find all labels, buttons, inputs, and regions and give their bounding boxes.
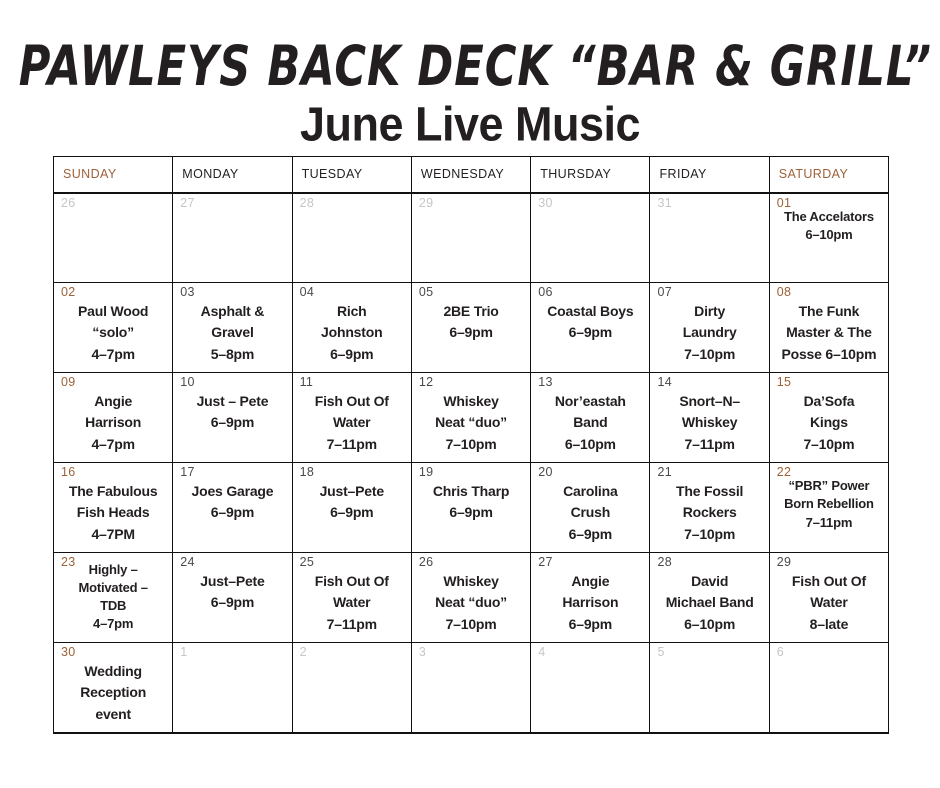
calendar-day-cell[interactable]: 22“PBR” PowerBorn Rebellion7–11pm: [769, 463, 888, 553]
day-number: 29: [777, 556, 792, 569]
event-line: Water: [299, 592, 405, 613]
calendar-week-row: 26272829303101The Accelators6–10pm: [54, 193, 889, 283]
day-number: 1: [180, 646, 187, 659]
calendar-day-cell[interactable]: 06Coastal Boys6–9pm: [531, 283, 650, 373]
event-line: 7–10pm: [656, 524, 762, 545]
day-number: 16: [61, 466, 76, 479]
event-line: Fish Out Of: [299, 571, 405, 592]
day-number: 4: [538, 646, 545, 659]
event-line: Reception: [60, 682, 166, 703]
event-line: 7–10pm: [776, 434, 882, 455]
calendar-day-cell[interactable]: 01The Accelators6–10pm: [769, 193, 888, 283]
event-line: Motivated –: [60, 579, 166, 597]
event-line: event: [60, 704, 166, 725]
event-line: Just–Pete: [299, 481, 405, 502]
calendar-day-cell[interactable]: 02Paul Wood“solo”4–7pm: [54, 283, 173, 373]
calendar-day-cell[interactable]: 4: [531, 643, 650, 733]
event-line: Asphalt &: [179, 301, 285, 322]
day-number: 28: [657, 556, 672, 569]
column-header-tuesday: TUESDAY: [292, 157, 411, 193]
calendar-day-cell[interactable]: 12WhiskeyNeat “duo”7–10pm: [411, 373, 530, 463]
calendar-header-row: SUNDAYMONDAYTUESDAYWEDNESDAYTHURSDAYFRID…: [54, 157, 889, 193]
column-header-saturday: SATURDAY: [769, 157, 888, 193]
column-header-sunday: SUNDAY: [54, 157, 173, 193]
day-number: 04: [300, 286, 315, 299]
event-line: Whiskey: [656, 412, 762, 433]
event-line: Water: [776, 592, 882, 613]
calendar-day-cell[interactable]: 11Fish Out OfWater7–11pm: [292, 373, 411, 463]
calendar-day-cell[interactable]: 10Just – Pete6–9pm: [173, 373, 292, 463]
calendar-day-cell[interactable]: 04RichJohnston6–9pm: [292, 283, 411, 373]
day-number: 26: [419, 556, 434, 569]
event-line: Gravel: [179, 322, 285, 343]
day-number: 19: [419, 466, 434, 479]
day-number: 08: [777, 286, 792, 299]
calendar-day-cell[interactable]: 5: [650, 643, 769, 733]
day-number: 30: [61, 646, 76, 659]
calendar-day-cell[interactable]: 29: [411, 193, 530, 283]
calendar-week-row: 30WeddingReceptionevent123456: [54, 643, 889, 733]
event-line: Laundry: [656, 322, 762, 343]
calendar-day-cell[interactable]: 27: [173, 193, 292, 283]
calendar-week-row: 16The FabulousFish Heads4–7PM17Joes Gara…: [54, 463, 889, 553]
day-number: 09: [61, 376, 76, 389]
event-line: 5–8pm: [179, 344, 285, 365]
event-line: “solo”: [60, 322, 166, 343]
calendar-day-cell[interactable]: 26WhiskeyNeat “duo”7–10pm: [411, 553, 530, 643]
event-line: 4–7pm: [60, 344, 166, 365]
event-line: Neat “duo”: [418, 592, 524, 613]
day-number: 05: [419, 286, 434, 299]
calendar-day-cell[interactable]: 30: [531, 193, 650, 283]
event-line: Angie: [60, 391, 166, 412]
day-number: 23: [61, 556, 76, 569]
event-line: 7–11pm: [299, 434, 405, 455]
day-number: 12: [419, 376, 434, 389]
event-line: Fish Out Of: [299, 391, 405, 412]
event-line: 6–9pm: [418, 322, 524, 343]
calendar-day-cell[interactable]: 1: [173, 643, 292, 733]
calendar-day-cell[interactable]: 16The FabulousFish Heads4–7PM: [54, 463, 173, 553]
day-number: 17: [180, 466, 195, 479]
event-line: Fish Out Of: [776, 571, 882, 592]
event-line: Coastal Boys: [537, 301, 643, 322]
calendar-day-cell[interactable]: 21The FossilRockers7–10pm: [650, 463, 769, 553]
calendar-day-cell[interactable]: 28DavidMichael Band6–10pm: [650, 553, 769, 643]
calendar-day-cell[interactable]: 30WeddingReceptionevent: [54, 643, 173, 733]
event-line: Crush: [537, 502, 643, 523]
day-number: 13: [538, 376, 553, 389]
day-number: 07: [657, 286, 672, 299]
day-number: 5: [657, 646, 664, 659]
event-line: Harrison: [537, 592, 643, 613]
event-line: 7–11pm: [656, 434, 762, 455]
event-line: 4–7PM: [60, 524, 166, 545]
day-number: 24: [180, 556, 195, 569]
day-number: 11: [300, 376, 314, 389]
event-line: Just – Pete: [179, 391, 285, 412]
calendar-day-cell[interactable]: 13Nor’eastahBand6–10pm: [531, 373, 650, 463]
day-number: 2: [300, 646, 307, 659]
calendar-day-cell[interactable]: 18Just–Pete6–9pm: [292, 463, 411, 553]
day-number: 20: [538, 466, 553, 479]
calendar-day-cell[interactable]: 25Fish Out OfWater7–11pm: [292, 553, 411, 643]
event-line: 6–9pm: [418, 502, 524, 523]
event-line: The Funk: [776, 301, 882, 322]
day-number: 15: [777, 376, 792, 389]
calendar-week-row: 09AngieHarrison4–7pm10Just – Pete6–9pm11…: [54, 373, 889, 463]
calendar-day-cell[interactable]: 052BE Trio6–9pm: [411, 283, 530, 373]
event-line: 6–10pm: [656, 614, 762, 635]
calendar-week-row: 02Paul Wood“solo”4–7pm03Asphalt &Gravel5…: [54, 283, 889, 373]
calendar-day-cell[interactable]: 03Asphalt &Gravel5–8pm: [173, 283, 292, 373]
event-line: Michael Band: [656, 592, 762, 613]
day-number: 03: [180, 286, 195, 299]
event-line: Whiskey: [418, 571, 524, 592]
event-line: Da’Sofa: [776, 391, 882, 412]
event-line: Kings: [776, 412, 882, 433]
event-line: Angie: [537, 571, 643, 592]
event-line: 6–9pm: [537, 322, 643, 343]
event-line: 4–7pm: [60, 434, 166, 455]
calendar-day-cell[interactable]: 3: [411, 643, 530, 733]
event-line: Master & The: [776, 322, 882, 343]
calendar-day-cell[interactable]: 29Fish Out OfWater8–late: [769, 553, 888, 643]
day-number: 27: [538, 556, 553, 569]
event-line: 2BE Trio: [418, 301, 524, 322]
event-line: Snort–N–: [656, 391, 762, 412]
event-line: 7–10pm: [418, 434, 524, 455]
event-line: Dirty: [656, 301, 762, 322]
event-line: Just–Pete: [179, 571, 285, 592]
event-line: 6–10pm: [537, 434, 643, 455]
calendar-day-cell[interactable]: 26: [54, 193, 173, 283]
day-number: 18: [300, 466, 315, 479]
column-header-monday: MONDAY: [173, 157, 292, 193]
event-line: 6–10pm: [776, 226, 882, 244]
event-line: David: [656, 571, 762, 592]
calendar-day-cell[interactable]: 20CarolinaCrush6–9pm: [531, 463, 650, 553]
event-line: The Fossil: [656, 481, 762, 502]
day-number: 30: [538, 197, 553, 210]
event-line: Highly –: [60, 561, 166, 579]
column-header-wednesday: WEDNESDAY: [411, 157, 530, 193]
event-line: 7–10pm: [418, 614, 524, 635]
live-music-calendar: SUNDAYMONDAYTUESDAYWEDNESDAYTHURSDAYFRID…: [53, 156, 889, 734]
calendar-day-cell[interactable]: 24Just–Pete6–9pm: [173, 553, 292, 643]
calendar-day-cell[interactable]: 23Highly –Motivated –TDB4–7pm: [54, 553, 173, 643]
calendar-day-cell[interactable]: 15Da’SofaKings7–10pm: [769, 373, 888, 463]
calendar-day-cell[interactable]: 19Chris Tharp6–9pm: [411, 463, 530, 553]
event-line: Born Rebellion: [776, 495, 882, 513]
event-line: 7–11pm: [776, 514, 882, 532]
event-line: 7–11pm: [299, 614, 405, 635]
event-line: Fish Heads: [60, 502, 166, 523]
event-line: 4–7pm: [60, 615, 166, 633]
day-number: 3: [419, 646, 426, 659]
event-line: Johnston: [299, 322, 405, 343]
column-header-thursday: THURSDAY: [531, 157, 650, 193]
event-line: Band: [537, 412, 643, 433]
event-line: 8–late: [776, 614, 882, 635]
calendar-day-cell[interactable]: 09AngieHarrison4–7pm: [54, 373, 173, 463]
event-line: Rich: [299, 301, 405, 322]
event-line: Posse 6–10pm: [776, 344, 882, 365]
event-line: Water: [299, 412, 405, 433]
calendar-day-cell[interactable]: 2: [292, 643, 411, 733]
day-number: 02: [61, 286, 76, 299]
brand-title: PAWLEYS BACK DECK “BAR & GRILL”: [19, 34, 921, 99]
event-line: Joes Garage: [179, 481, 285, 502]
calendar-week-row: 23Highly –Motivated –TDB4–7pm24Just–Pete…: [54, 553, 889, 643]
event-line: 6–9pm: [299, 502, 405, 523]
calendar-page: PAWLEYS BACK DECK “BAR & GRILL” June Liv…: [0, 0, 940, 788]
event-line: Harrison: [60, 412, 166, 433]
event-line: 6–9pm: [537, 614, 643, 635]
event-line: Rockers: [656, 502, 762, 523]
event-line: 6–9pm: [179, 592, 285, 613]
day-number: 31: [657, 197, 672, 210]
event-line: The Accelators: [776, 208, 882, 226]
calendar-day-cell[interactable]: 27AngieHarrison6–9pm: [531, 553, 650, 643]
event-line: Neat “duo”: [418, 412, 524, 433]
day-number: 21: [657, 466, 672, 479]
calendar-day-cell[interactable]: 6: [769, 643, 888, 733]
event-line: TDB: [60, 597, 166, 615]
event-line: Carolina: [537, 481, 643, 502]
event-line: 6–9pm: [537, 524, 643, 545]
day-number: 28: [300, 197, 315, 210]
calendar-body: 26272829303101The Accelators6–10pm02Paul…: [54, 193, 889, 733]
event-line: 6–9pm: [299, 344, 405, 365]
day-number: 01: [777, 197, 792, 210]
day-number: 22: [777, 466, 792, 479]
calendar-day-cell[interactable]: 14Snort–N–Whiskey7–11pm: [650, 373, 769, 463]
calendar-day-cell[interactable]: 07DirtyLaundry7–10pm: [650, 283, 769, 373]
day-number: 6: [777, 646, 784, 659]
day-number: 27: [180, 197, 195, 210]
column-header-friday: FRIDAY: [650, 157, 769, 193]
calendar-day-cell[interactable]: 31: [650, 193, 769, 283]
page-subtitle: June Live Music: [0, 96, 940, 152]
event-line: Chris Tharp: [418, 481, 524, 502]
day-number: 10: [180, 376, 195, 389]
event-line: 6–9pm: [179, 502, 285, 523]
event-line: Nor’eastah: [537, 391, 643, 412]
event-line: Paul Wood: [60, 301, 166, 322]
day-number: 29: [419, 197, 434, 210]
day-number: 06: [538, 286, 553, 299]
event-line: The Fabulous: [60, 481, 166, 502]
event-line: Whiskey: [418, 391, 524, 412]
day-number: 14: [657, 376, 672, 389]
calendar-day-cell[interactable]: 17Joes Garage6–9pm: [173, 463, 292, 553]
event-line: Wedding: [60, 661, 166, 682]
calendar-day-cell[interactable]: 08The FunkMaster & ThePosse 6–10pm: [769, 283, 888, 373]
event-line: 7–10pm: [656, 344, 762, 365]
event-line: 6–9pm: [179, 412, 285, 433]
event-line: “PBR” Power: [776, 477, 882, 495]
day-number: 26: [61, 197, 76, 210]
day-number: 25: [300, 556, 315, 569]
calendar-day-cell[interactable]: 28: [292, 193, 411, 283]
